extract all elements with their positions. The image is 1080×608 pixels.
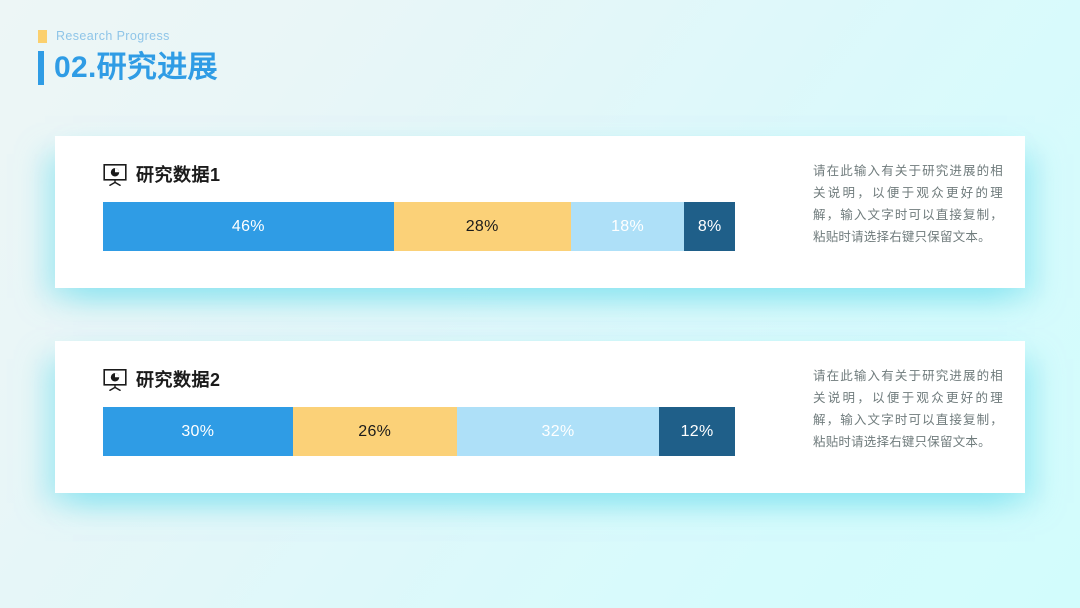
eyebrow-label: Research Progress bbox=[56, 29, 170, 43]
stacked-bar-chart: 46% 28% 18% 8% bbox=[103, 202, 735, 251]
bar-segment: 32% bbox=[457, 407, 659, 456]
bar-segment: 30% bbox=[103, 407, 293, 456]
slide-canvas: Research Progress 02.研究进展 研究数据1 46% bbox=[0, 0, 1080, 608]
card-title: 研究数据2 bbox=[136, 371, 221, 389]
card-content-left: 研究数据1 46% 28% 18% 8% bbox=[103, 162, 748, 251]
slide-header: Research Progress 02.研究进展 bbox=[38, 28, 558, 85]
card-header: 研究数据1 bbox=[103, 162, 748, 188]
card-content-left: 研究数据2 30% 26% 32% 12% bbox=[103, 367, 748, 456]
card-title: 研究数据1 bbox=[136, 166, 221, 184]
bar-segment: 18% bbox=[571, 202, 685, 251]
bar-segment: 28% bbox=[394, 202, 571, 251]
page-title: 02.研究进展 bbox=[54, 53, 218, 83]
title-accent-bar-icon bbox=[38, 51, 44, 85]
card-description: 请在此输入有关于研究进展的相关说明，以便于观众更好的理解，输入文字时可以直接复制… bbox=[813, 365, 1003, 453]
presentation-chart-icon bbox=[103, 369, 127, 391]
square-marker-icon bbox=[38, 30, 47, 43]
research-data-card: 研究数据1 46% 28% 18% 8% 请在此输入有关于研究进展的相关说明，以… bbox=[55, 136, 1025, 288]
bar-segment: 12% bbox=[659, 407, 735, 456]
stacked-bar-chart: 30% 26% 32% 12% bbox=[103, 407, 735, 456]
card-description: 请在此输入有关于研究进展的相关说明，以便于观众更好的理解，输入文字时可以直接复制… bbox=[813, 160, 1003, 248]
card-header: 研究数据2 bbox=[103, 367, 748, 393]
presentation-chart-icon bbox=[103, 164, 127, 186]
research-data-card: 研究数据2 30% 26% 32% 12% 请在此输入有关于研究进展的相关说明，… bbox=[55, 341, 1025, 493]
eyebrow-row: Research Progress bbox=[38, 28, 558, 44]
bar-segment: 46% bbox=[103, 202, 394, 251]
bar-segment: 26% bbox=[293, 407, 457, 456]
title-row: 02.研究进展 bbox=[38, 51, 558, 85]
bar-segment: 8% bbox=[684, 202, 735, 251]
